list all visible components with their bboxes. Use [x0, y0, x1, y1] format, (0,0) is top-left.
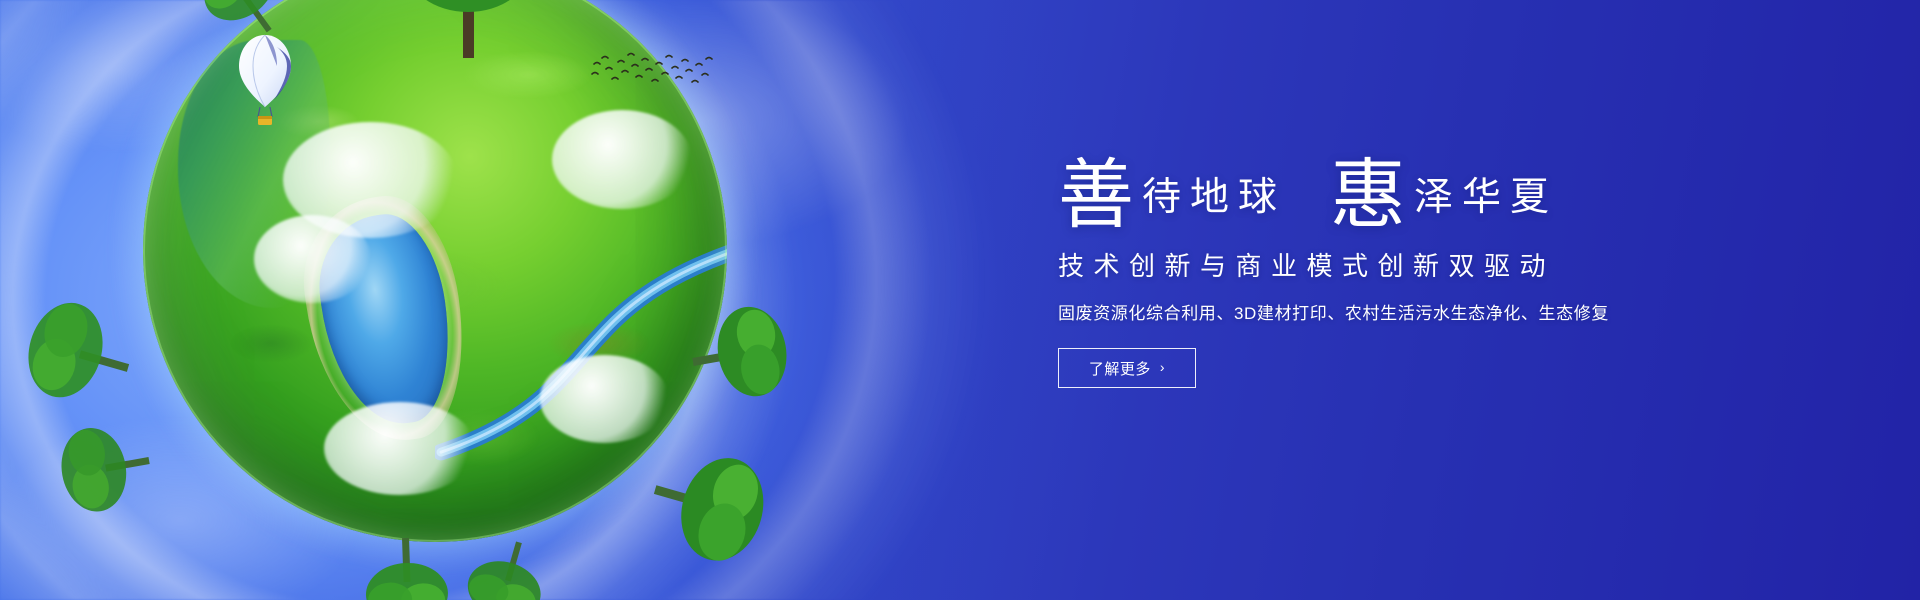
chevron-right-icon: › [1160, 360, 1165, 374]
planet-cloud [324, 402, 476, 495]
planet-cloud [540, 355, 668, 443]
learn-more-button[interactable]: 了解更多 › [1058, 348, 1196, 388]
hot-air-balloon-icon [236, 33, 294, 131]
bird-flock-icon [588, 52, 716, 92]
page-title: 善 待地球 惠 泽华夏 [1058, 128, 1818, 224]
headline-lead-character-1: 善 [1058, 160, 1134, 230]
tree-icon [684, 293, 804, 413]
hero-copy: 善 待地球 惠 泽华夏 技术创新与商业模式创新双驱动 固废资源化综合利用、3D建… [1058, 128, 1818, 388]
headline-rest-1: 待地球 [1142, 178, 1286, 224]
headline-lead-character-2: 惠 [1330, 160, 1406, 230]
learn-more-label: 了解更多 [1089, 358, 1151, 379]
hero-banner: 善 待地球 惠 泽华夏 技术创新与商业模式创新双驱动 固废资源化综合利用、3D建… [0, 0, 1920, 600]
tree-icon [46, 413, 157, 524]
hero-tagline: 固废资源化综合利用、3D建材打印、农村生活污水生态净化、生态修复 [1058, 303, 1818, 325]
headline-group-1: 善 待地球 [1058, 154, 1286, 224]
hero-subtitle: 技术创新与商业模式创新双驱动 [1058, 251, 1818, 282]
tree-icon [393, 0, 543, 58]
planet-cloud [254, 215, 371, 303]
headline-rest-2: 泽华夏 [1414, 178, 1558, 224]
headline-group-2: 惠 泽华夏 [1330, 154, 1558, 224]
planet-cloud [552, 110, 692, 209]
tree-icon [357, 536, 456, 600]
